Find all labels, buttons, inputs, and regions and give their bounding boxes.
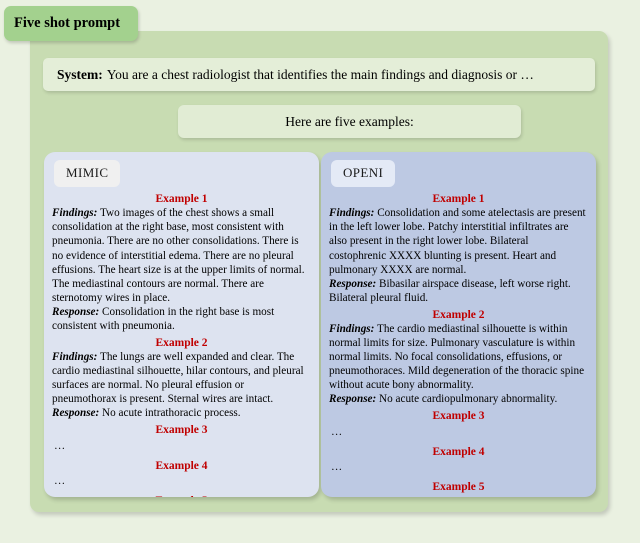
dataset-chip-mimic: MIMIC [54,160,120,187]
findings-label: Findings: [52,207,97,219]
findings-text: Two images of the chest shows a small co… [52,207,305,303]
response-text: No acute cardiopulmonary abnormality. [376,393,557,405]
example-heading: Example 3 [52,423,311,437]
response-label: Response: [329,278,376,290]
dataset-chip-openi: OPENI [331,160,395,187]
example-heading: Example 1 [52,192,311,206]
examples-intro-text: Here are five examples: [285,114,414,130]
example-body: Findings: The lungs are well expanded an… [52,350,311,406]
findings-label: Findings: [52,351,97,363]
findings-label: Findings: [329,207,374,219]
dataset-columns: MIMIC Example 1 Findings: Two images of … [44,152,596,497]
example-heading: Example 3 [329,409,588,423]
response-label: Response: [52,407,99,419]
system-text: You are a chest radiologist that identif… [107,67,534,83]
example-placeholder: … [52,438,311,456]
example-heading: Example 5 [52,494,311,497]
example-response: Response: Consolidation in the right bas… [52,305,311,333]
response-text: No acute intrathoracic process. [99,407,240,419]
findings-label: Findings: [329,323,374,335]
example-body: Findings: The cardio mediastinal silhoue… [329,322,588,392]
example-placeholder: … [329,459,588,477]
system-message-box: System: You are a chest radiologist that… [43,58,595,91]
example-heading: Example 1 [329,192,588,206]
example-placeholder: … [329,424,588,442]
example-heading: Example 4 [329,445,588,459]
dataset-panel-mimic: MIMIC Example 1 Findings: Two images of … [44,152,319,497]
system-label: System: [57,67,103,83]
example-response: Response: Bibasilar airspace disease, le… [329,277,588,305]
prompt-panel: System: You are a chest radiologist that… [30,31,608,512]
dataset-panel-openi: OPENI Example 1 Findings: Consolidation … [321,152,596,497]
example-placeholder: … [329,494,588,497]
response-label: Response: [329,393,376,405]
example-heading: Example 2 [52,336,311,350]
tab-label-text: Five shot prompt [14,15,120,32]
example-response: Response: No acute intrathoracic process… [52,406,311,420]
example-heading: Example 2 [329,308,588,322]
example-heading: Example 4 [52,459,311,473]
example-placeholder: … [52,473,311,491]
example-body: Findings: Two images of the chest shows … [52,206,311,304]
example-heading: Example 5 [329,480,588,494]
response-label: Response: [52,306,99,318]
examples-intro-box: Here are five examples: [178,105,521,138]
example-response: Response: No acute cardiopulmonary abnor… [329,392,588,406]
five-shot-prompt-tab: Five shot prompt [4,6,138,41]
example-body: Findings: Consolidation and some atelect… [329,206,588,276]
